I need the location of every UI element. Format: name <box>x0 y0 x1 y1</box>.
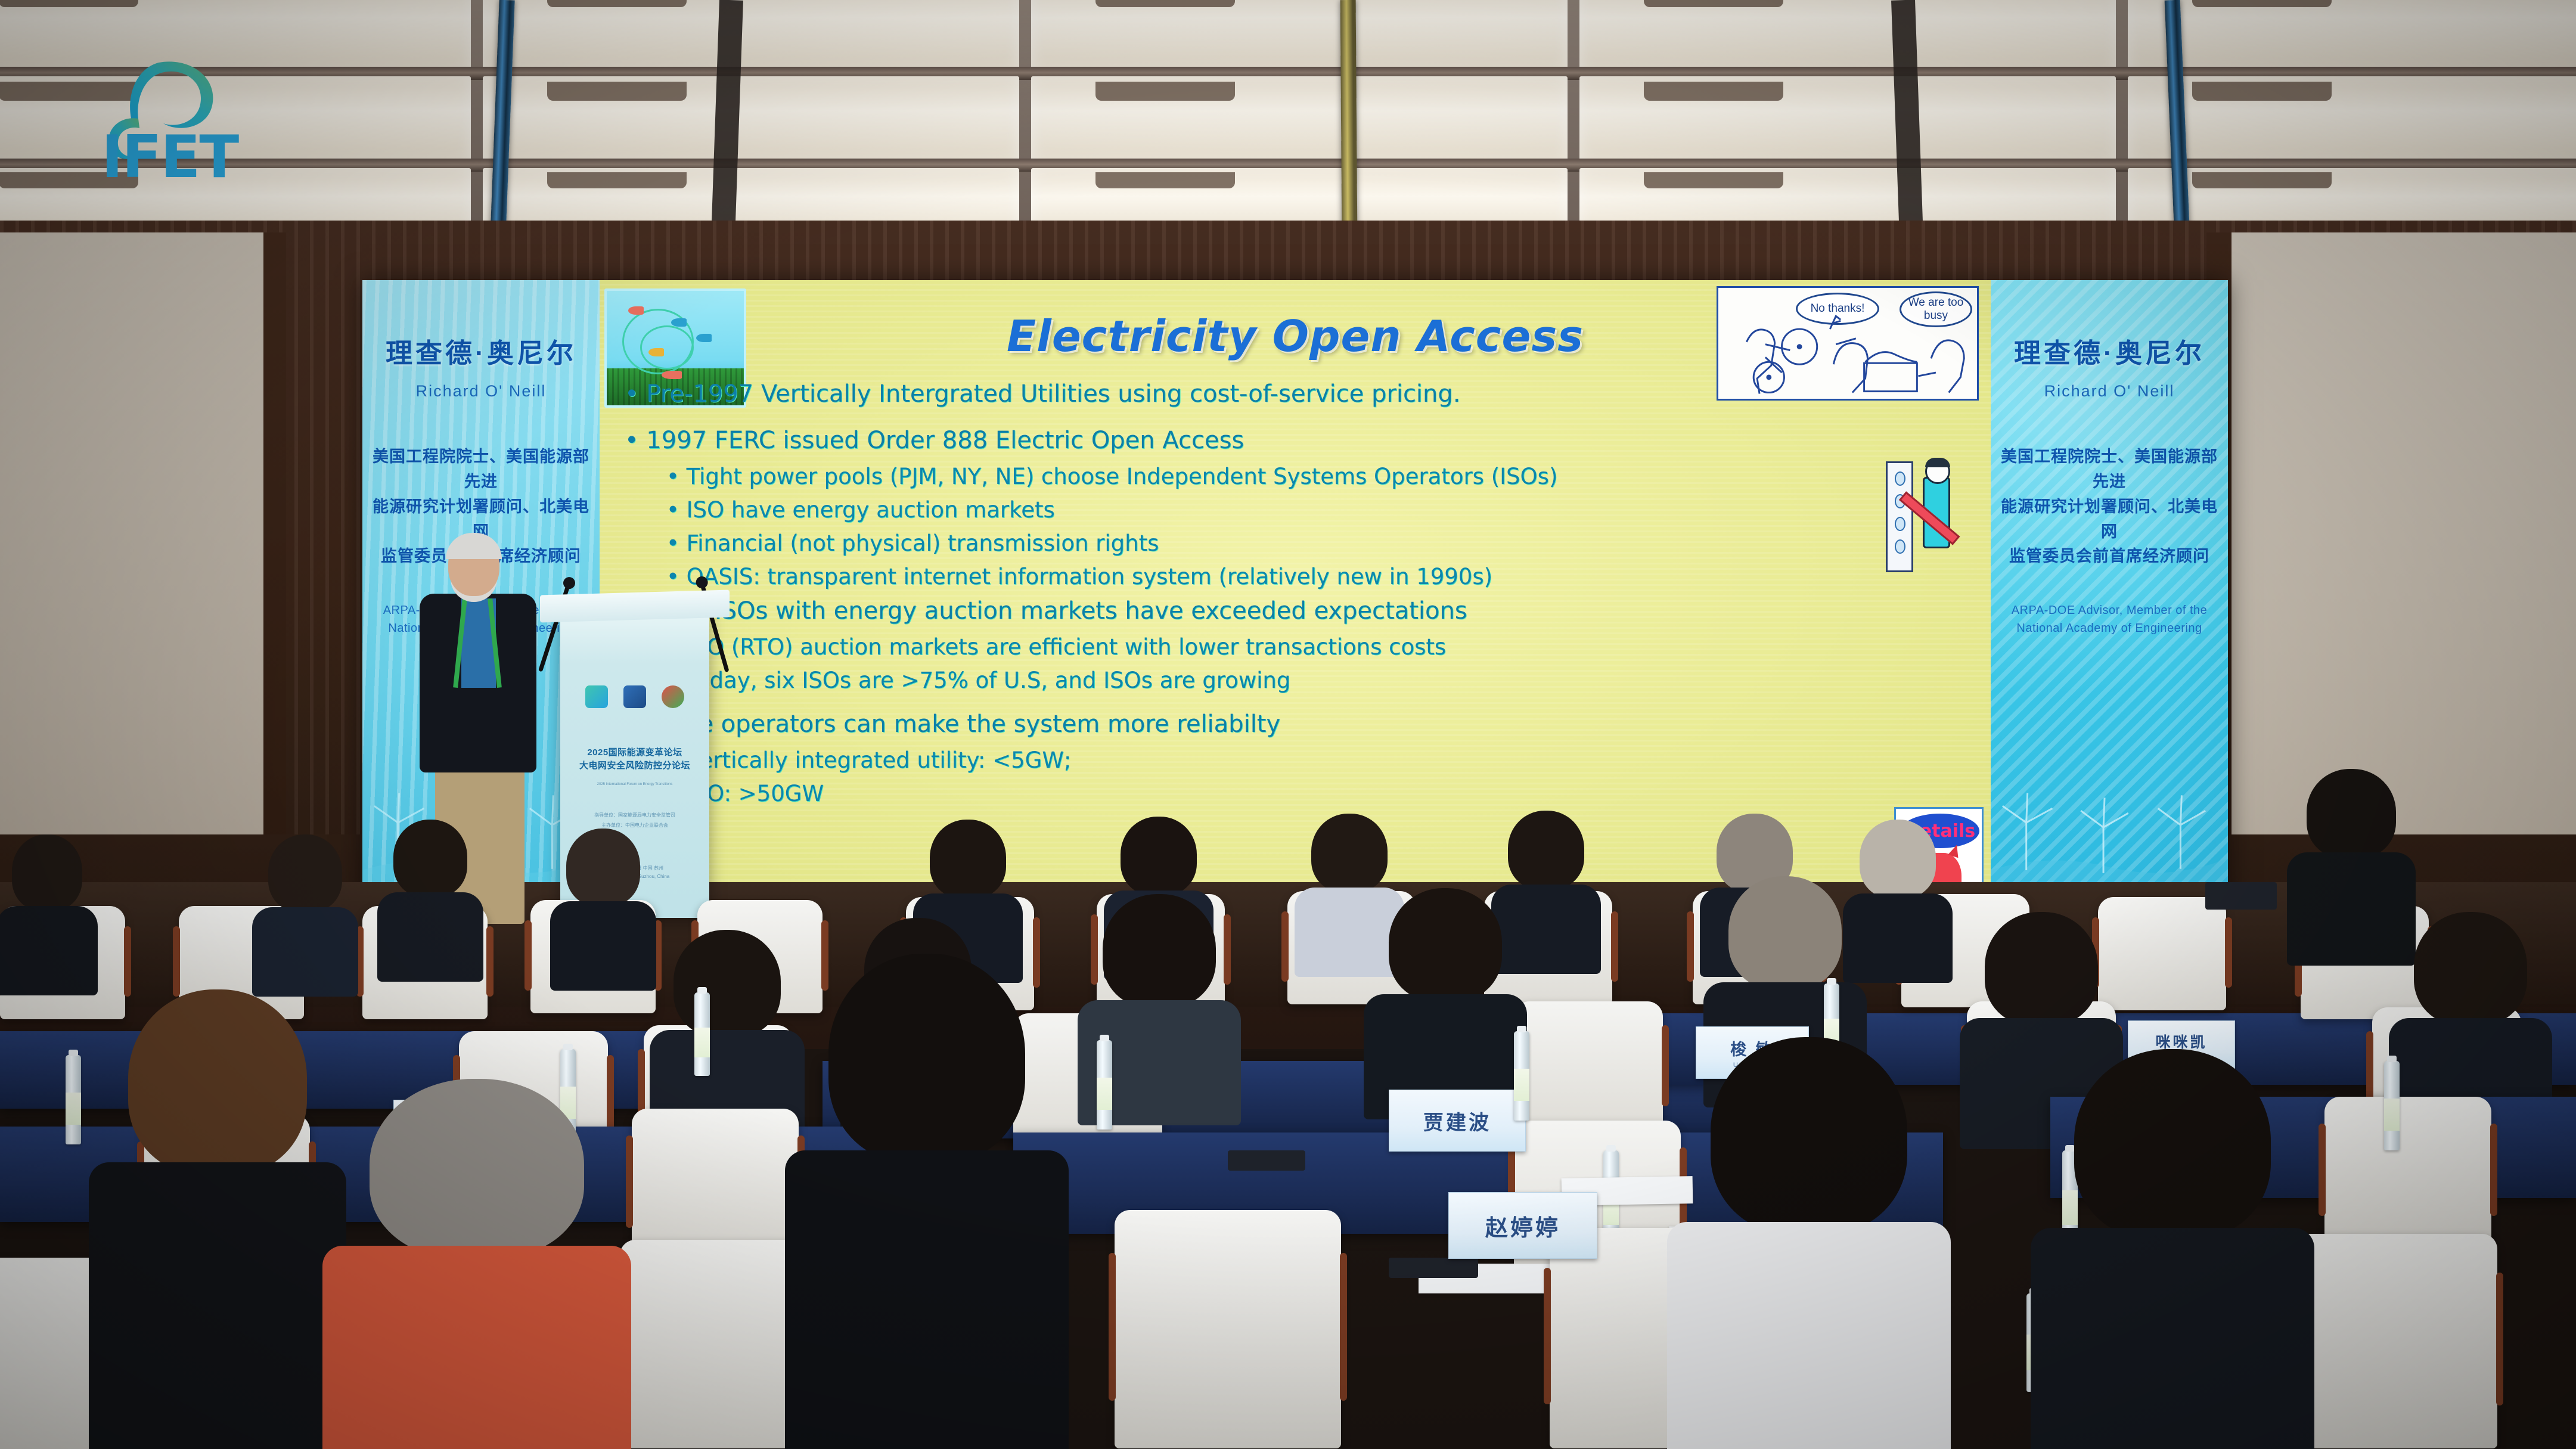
conference-hall-photo: 理查德·奥尼尔 Richard O' Neill 美国工程院院士、美国能源部先进… <box>0 0 2576 1449</box>
man-with-pencil-checklist-clipart <box>1886 459 1963 578</box>
name-placard: 赵婷婷 <box>1448 1192 1597 1259</box>
bullet-item: • 1997 FERC issued Order 888 Electric Op… <box>625 427 1889 454</box>
podium-title-cn-line: 2025国际能源变革论坛 <box>560 746 709 759</box>
audience-member <box>1389 888 1502 1103</box>
audience-member <box>1711 1037 1907 1449</box>
bullet-item: • 2025 ISOs with energy auction markets … <box>625 597 1889 625</box>
audience-member <box>1508 811 1584 960</box>
speaker-name-cn: 理查德·奥尼尔 <box>371 331 591 370</box>
ifet-wordmark: IFET <box>101 123 238 191</box>
audience-member <box>268 834 342 983</box>
water-bottle <box>1097 1040 1112 1130</box>
ceiling-light-panel <box>2128 76 2576 163</box>
ceiling-light-panel <box>483 0 1019 72</box>
tablet-device <box>1389 1258 1478 1278</box>
speaker-name-en: Richard O' Neill <box>371 382 591 401</box>
ceiling <box>0 0 2576 235</box>
audience-member <box>128 989 307 1449</box>
side-wall-left <box>0 232 286 936</box>
speaker-title-cn: 美国工程院院士、美国能源部先进 能源研究计划署顾问、北美电网 监管委员会前首席经… <box>1999 445 2220 569</box>
name-placard: 贾建波 <box>1389 1090 1526 1152</box>
ceiling-gold-strip <box>1340 0 1358 235</box>
audience-chair <box>2098 897 2226 1010</box>
tablet-device <box>1228 1150 1305 1171</box>
audience-chair <box>1115 1210 1341 1448</box>
podium-organizer-line: 指导单位：国家能源局电力安全监管司 <box>560 811 709 821</box>
ifet-logo <box>585 685 608 708</box>
slide-bullet-list: • Pre-1997 Vertically Intergrated Utilit… <box>625 380 1889 814</box>
ceiling-light-panel <box>1579 0 2116 72</box>
water-bottle <box>694 992 710 1076</box>
speaker-title-cn-line: 美国工程院院士、美国能源部先进 <box>371 445 591 495</box>
partner-logo-1 <box>623 685 646 708</box>
audience-member <box>1860 820 1936 969</box>
placard-name-cn: 贾建波 <box>1423 1106 1491 1135</box>
audience-member <box>1103 894 1216 1109</box>
bullet-item: • ISO have energy auction markets <box>666 497 1889 523</box>
ceiling-light-panel <box>1031 0 1568 72</box>
ceiling-light-panel <box>1579 76 2116 163</box>
water-bottle <box>1514 1031 1529 1121</box>
water-bottle <box>66 1055 81 1144</box>
speaker-panel-right: 理查德·奥尼尔 Richard O' Neill 美国工程院院士、美国能源部先进… <box>1991 280 2228 924</box>
bullet-item: • ISO (RTO) auction markets are efficien… <box>666 634 1889 660</box>
audience-member <box>1311 814 1388 963</box>
audience-chair <box>1514 1001 1663 1132</box>
audience-chair <box>2324 1097 2491 1246</box>
podium-title-cn-line: 大电网安全风险防控分论坛 <box>560 759 709 772</box>
speaker-title-en-line: ARPA-DOE Advisor, Member of the <box>1999 601 2220 619</box>
ifet-watermark: IFET <box>101 57 298 188</box>
podium-title-cn: 2025国际能源变革论坛 大电网安全风险防控分论坛 <box>560 746 709 772</box>
audience-member <box>674 930 781 1132</box>
speaker-title-cn-line: 美国工程院院士、美国能源部先进 <box>1999 445 2220 495</box>
speaker-name-en: Richard O' Neill <box>1999 382 2220 401</box>
partner-logo-2 <box>662 685 684 708</box>
bullet-item: • vertically integrated utility: <5GW; <box>666 747 1889 773</box>
placard-name-cn: 赵婷婷 <box>1485 1209 1560 1242</box>
bullet-item: • ISO: >50GW <box>666 781 1889 806</box>
bullet-item: • Today, six ISOs are >75% of U.S, and I… <box>666 668 1889 693</box>
audience-member <box>393 820 467 969</box>
water-bottle <box>2384 1061 2400 1150</box>
audience-member <box>370 1079 584 1449</box>
speaker-title-en: ARPA-DOE Advisor, Member of the National… <box>1999 601 2220 637</box>
speaker-title-cn-line: 能源研究计划署顾问、北美电网 <box>1999 495 2220 545</box>
ceiling-light-panel <box>483 76 1019 163</box>
bullet-item: • Large operators can make the system mo… <box>625 710 1889 738</box>
audience-member <box>828 954 1025 1449</box>
speaker-name-cn: 理查德·奥尼尔 <box>1999 331 2220 370</box>
podium-organizers: 指导单位：国家能源局电力安全监管司 主办单位：中国电力企业联合会 <box>560 811 709 831</box>
bullet-item: • Pre-1997 Vertically Intergrated Utilit… <box>625 380 1889 408</box>
audience-member <box>566 829 640 978</box>
podium-title-en: 2025 International Forum on Energy Trans… <box>560 782 709 787</box>
audience-member <box>12 834 82 983</box>
videographer <box>2307 769 2396 960</box>
audience-member <box>2074 1049 2271 1449</box>
speaker-title-en-line: National Academy of Engineering <box>1999 619 2220 637</box>
ceiling-light-panel <box>2128 0 2576 72</box>
bullet-item: • Financial (not physical) transmission … <box>666 530 1889 556</box>
bullet-item: • Tight power pools (PJM, NY, NE) choose… <box>666 464 1889 489</box>
ceiling-light-panel <box>1031 76 1568 163</box>
bullet-item: • OASIS: transparent internet informatio… <box>666 564 1889 589</box>
audience-chair <box>632 1109 799 1258</box>
video-camera <box>2205 882 2277 910</box>
speaker-title-cn-line: 监管委员会前首席经济顾问 <box>1999 544 2220 569</box>
